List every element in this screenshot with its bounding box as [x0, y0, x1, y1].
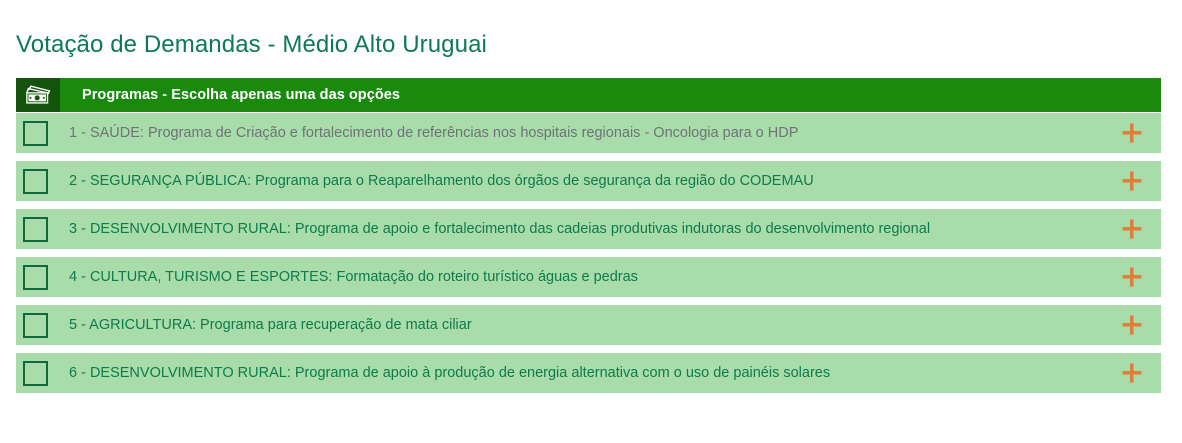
vote-checkbox[interactable] [23, 169, 48, 194]
page-title: Votação de Demandas - Médio Alto Uruguai [16, 29, 487, 61]
table-row[interactable]: 1 - SAÚDE: Programa de Criação e fortale… [16, 113, 1161, 153]
plus-icon[interactable] [1121, 170, 1143, 192]
table-row[interactable]: 5 - AGRICULTURA: Programa para recuperaç… [16, 305, 1161, 345]
table-row[interactable]: 4 - CULTURA, TURISMO E ESPORTES: Formata… [16, 257, 1161, 297]
plus-icon[interactable] [1121, 314, 1143, 336]
vote-checkbox[interactable] [23, 121, 48, 146]
page-root: Votação de Demandas - Médio Alto Uruguai [0, 0, 1182, 443]
money-banknote-icon-box [16, 78, 60, 112]
vote-option-label: 5 - AGRICULTURA: Programa para recuperaç… [48, 316, 1161, 334]
voting-table: Programas - Escolha apenas uma das opçõe… [16, 78, 1161, 393]
vote-checkbox[interactable] [23, 217, 48, 242]
voting-rows: 1 - SAÚDE: Programa de Criação e fortale… [16, 113, 1161, 393]
vote-option-label: 3 - DESENVOLVIMENTO RURAL: Programa de a… [48, 220, 1161, 238]
money-banknote-icon [25, 85, 51, 105]
vote-checkbox[interactable] [23, 361, 48, 386]
voting-table-header-title: Programas - Escolha apenas uma das opçõe… [60, 78, 400, 112]
table-row[interactable]: 2 - SEGURANÇA PÚBLICA: Programa para o R… [16, 161, 1161, 201]
plus-icon[interactable] [1121, 362, 1143, 384]
plus-icon[interactable] [1121, 122, 1143, 144]
vote-option-label: 6 - DESENVOLVIMENTO RURAL: Programa de a… [48, 364, 1161, 382]
vote-option-label: 2 - SEGURANÇA PÚBLICA: Programa para o R… [48, 172, 1161, 190]
plus-icon[interactable] [1121, 266, 1143, 288]
table-row[interactable]: 3 - DESENVOLVIMENTO RURAL: Programa de a… [16, 209, 1161, 249]
vote-option-label: 4 - CULTURA, TURISMO E ESPORTES: Formata… [48, 268, 1161, 286]
table-row[interactable]: 6 - DESENVOLVIMENTO RURAL: Programa de a… [16, 353, 1161, 393]
vote-checkbox[interactable] [23, 265, 48, 290]
voting-table-header: Programas - Escolha apenas uma das opçõe… [16, 78, 1161, 112]
vote-checkbox[interactable] [23, 313, 48, 338]
vote-option-label: 1 - SAÚDE: Programa de Criação e fortale… [48, 124, 1161, 142]
plus-icon[interactable] [1121, 218, 1143, 240]
